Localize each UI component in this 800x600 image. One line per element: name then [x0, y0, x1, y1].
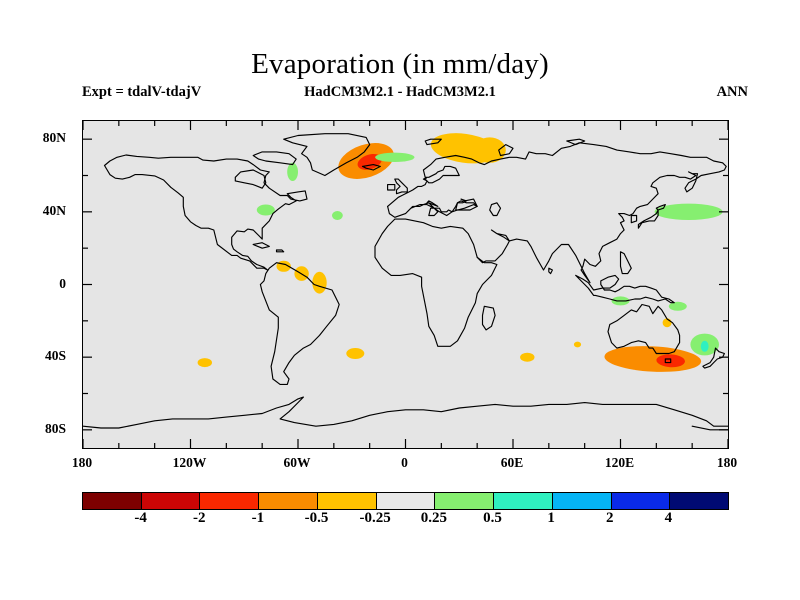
model-comparison-label: HadCM3M2.1 - HadCM3M2.1 — [0, 84, 800, 101]
colorbar-swatch-8[interactable] — [552, 493, 611, 509]
coastline-segment — [253, 152, 296, 165]
lat-tick-80S: 80S — [6, 421, 66, 437]
page-title: Evaporation (in mm/day) — [0, 48, 800, 81]
coastline-segment — [277, 250, 284, 252]
colorbar-label-9: 4 — [633, 510, 703, 527]
coastline-segment — [253, 243, 269, 249]
lat-tick-40N: 40N — [6, 203, 66, 219]
coastline-segment — [83, 397, 728, 428]
colorbar-swatch-1[interactable] — [141, 493, 200, 509]
lon-tick-6: 180 — [687, 455, 767, 471]
colorbar[interactable] — [82, 492, 729, 510]
anomaly-patch-baffin-green — [287, 163, 298, 181]
colorbar-swatch-2[interactable] — [199, 493, 258, 509]
lon-tick-0: 180 — [42, 455, 122, 471]
figure-canvas: Evaporation (in mm/day) Expt = tdalV-tda… — [0, 0, 800, 600]
coastline-segment — [375, 219, 497, 346]
colorbar-swatch-9[interactable] — [611, 493, 670, 509]
coastline-segment — [621, 252, 632, 274]
anomaly-patch-great-lakes-green — [257, 205, 275, 216]
colorbar-swatch-5[interactable] — [376, 493, 435, 509]
coastline-segment — [235, 170, 265, 188]
coastline-segment — [395, 179, 408, 194]
anomaly-patch-amazon-mouth — [312, 272, 326, 294]
anomaly-patch-north-atlantic-green — [332, 211, 343, 220]
lon-tick-5: 120E — [580, 455, 660, 471]
lat-tick-40S: 40S — [6, 348, 66, 364]
coastline-segment — [549, 268, 553, 273]
lon-tick-1: 120W — [150, 455, 230, 471]
world-map — [83, 121, 728, 448]
lon-tick-2: 60W — [257, 455, 337, 471]
coastline-segment — [388, 185, 395, 190]
coastline-segment — [456, 201, 478, 210]
colorbar-swatch-3[interactable] — [258, 493, 317, 509]
coastline-segment — [105, 155, 308, 270]
anomaly-patch-norwegian-sea-green — [375, 153, 414, 162]
anomaly-patch-tasman-cyan-core — [701, 341, 709, 352]
coastline-layer — [83, 134, 728, 430]
colorbar-swatch-0[interactable] — [83, 493, 141, 509]
anomaly-patch-south-pacific-orange — [198, 358, 212, 367]
axis-inner-ticks — [83, 121, 728, 448]
lat-tick-80N: 80N — [6, 130, 66, 146]
anomaly-patch-south-indian-orange — [520, 353, 534, 362]
coastline-segment — [483, 306, 496, 330]
colorbar-swatch-7[interactable] — [493, 493, 552, 509]
season-label: ANN — [717, 84, 748, 101]
lat-tick-0: 0 — [6, 276, 66, 292]
colorbar-swatch-6[interactable] — [434, 493, 493, 509]
coastline-segment — [260, 263, 339, 385]
coastline-segment — [631, 216, 636, 223]
colorbar-swatch-10[interactable] — [669, 493, 728, 509]
anomaly-patch-southern-ocean-small — [574, 342, 581, 348]
lon-tick-4: 60E — [472, 455, 552, 471]
coastline-segment — [490, 203, 501, 216]
lon-tick-3: 0 — [365, 455, 445, 471]
colorbar-swatch-4[interactable] — [317, 493, 376, 509]
map-plot-area — [82, 120, 729, 449]
anomaly-patch-south-atlantic-orange — [346, 348, 364, 359]
